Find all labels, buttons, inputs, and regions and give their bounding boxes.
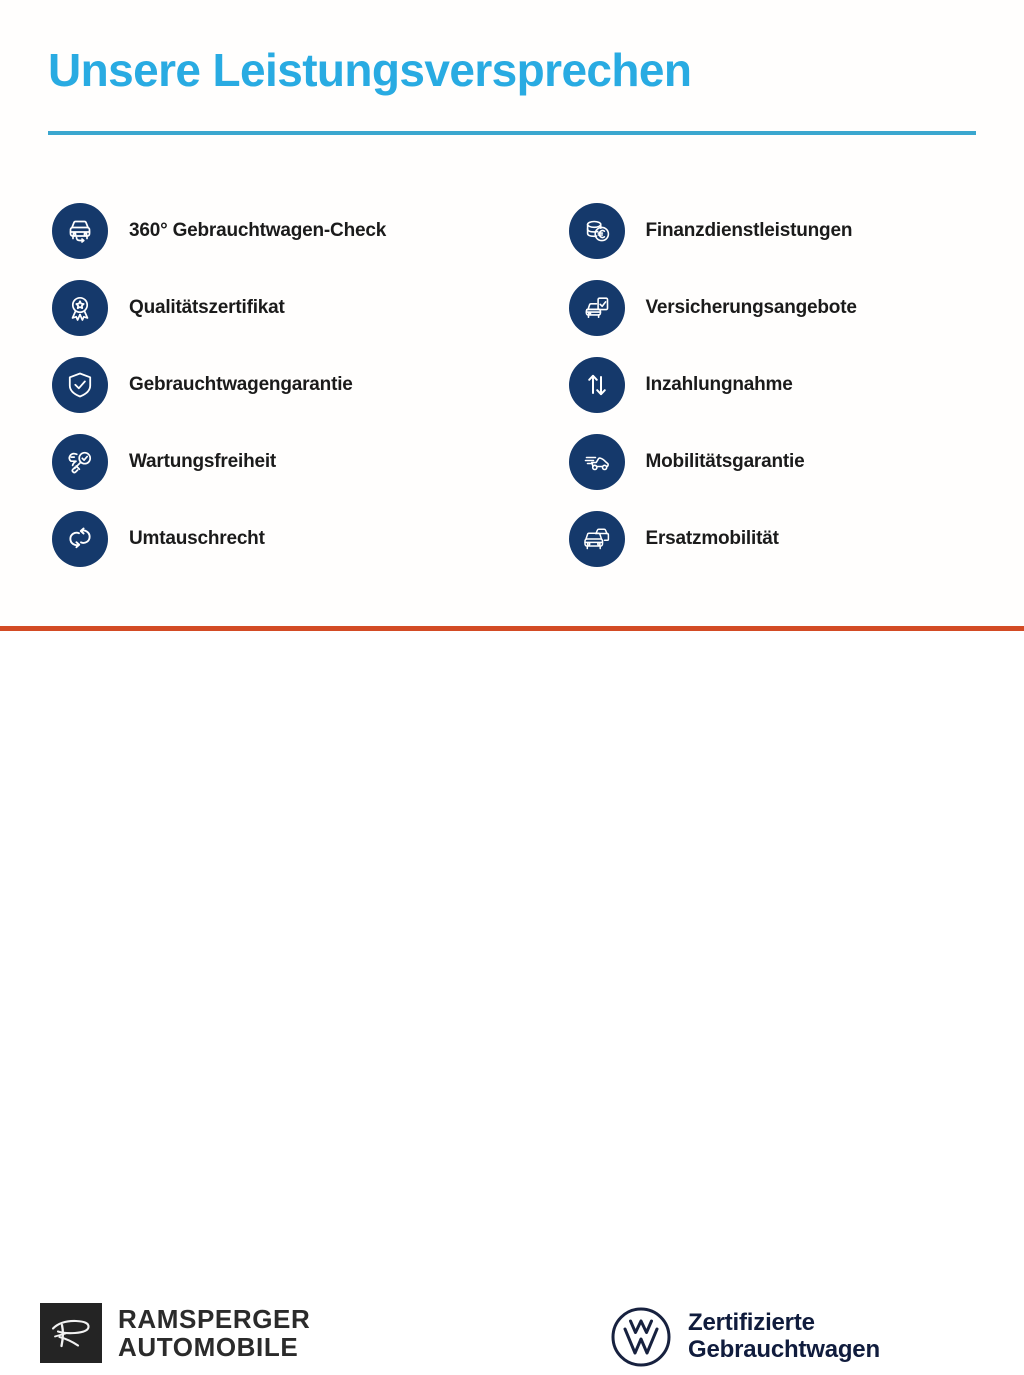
feature-label: Qualitätszertifikat (129, 297, 285, 319)
feature-item-versicherungsangebote[interactable]: Versicherungsangebote (569, 269, 1024, 346)
vw-roundel-icon (608, 1304, 674, 1370)
footer: RAMSPERGER AUTOMOBILE Zertifizierte Gebr… (0, 631, 1024, 768)
feature-label: Gebrauchtwagengarantie (129, 374, 353, 396)
exchange-arrows-icon (52, 511, 108, 567)
car-insurance-check-icon (569, 280, 625, 336)
two-cars-icon (569, 511, 625, 567)
feature-label: Mobilitätsgarantie (646, 451, 805, 473)
promise-slide: Unsere Leistungsversprechen (0, 0, 1024, 768)
ramsperger-line-1: RAMSPERGER (118, 1305, 310, 1333)
volkswagen-logo[interactable]: Zertifizierte Gebrauchtwagen (608, 1304, 880, 1370)
feature-column-right: Finanzdienstleistungen (508, 192, 1024, 577)
vw-line-2: Gebrauchtwagen (688, 1337, 880, 1364)
feature-item-gebrauchtwagengarantie[interactable]: Gebrauchtwagengarantie (52, 346, 508, 423)
title-underline-rule (48, 131, 976, 135)
shield-check-icon (52, 357, 108, 413)
wrench-check-icon (52, 434, 108, 490)
feature-label: Versicherungsangebote (646, 297, 857, 319)
feature-item-finanzdienstleistungen[interactable]: Finanzdienstleistungen (569, 192, 1024, 269)
feature-item-ersatzmobilitaet[interactable]: Ersatzmobilität (569, 500, 1024, 577)
vw-wordmark: Zertifizierte Gebrauchtwagen (688, 1310, 880, 1364)
feature-label: Inzahlungnahme (646, 374, 793, 396)
coins-euro-icon (569, 203, 625, 259)
ramsperger-logo[interactable]: RAMSPERGER AUTOMOBILE (40, 1303, 310, 1363)
ramsperger-wordmark: RAMSPERGER AUTOMOBILE (118, 1305, 310, 1361)
feature-label: Finanzdienstleistungen (646, 220, 853, 242)
ramsperger-line-2: AUTOMOBILE (118, 1333, 310, 1361)
feature-label: 360° Gebrauchtwagen-Check (129, 220, 386, 242)
page-title: Unsere Leistungsversprechen (48, 46, 976, 94)
car-speed-icon (569, 434, 625, 490)
up-down-arrows-icon (569, 357, 625, 413)
feature-label: Wartungsfreiheit (129, 451, 276, 473)
feature-item-wartungsfreiheit[interactable]: Wartungsfreiheit (52, 423, 508, 500)
feature-item-qualitaetszertifikat[interactable]: Qualitätszertifikat (52, 269, 508, 346)
ramsperger-r-mark-icon (40, 1303, 102, 1363)
feature-item-gebrauchtwagen-check[interactable]: 360° Gebrauchtwagen-Check (52, 192, 508, 269)
feature-column-left: 360° Gebrauchtwagen-Check Qualitätszerti… (0, 192, 508, 577)
feature-item-umtauschrecht[interactable]: Umtauschrecht (52, 500, 508, 577)
award-rosette-icon (52, 280, 108, 336)
vw-line-1: Zertifizierte (688, 1310, 880, 1337)
title-block: Unsere Leistungsversprechen (48, 46, 976, 94)
feature-item-inzahlungnahme[interactable]: Inzahlungnahme (569, 346, 1024, 423)
feature-grid: 360° Gebrauchtwagen-Check Qualitätszerti… (0, 192, 1024, 577)
car-check-icon (52, 203, 108, 259)
feature-item-mobilitaetsgarantie[interactable]: Mobilitätsgarantie (569, 423, 1024, 500)
feature-label: Umtauschrecht (129, 528, 265, 550)
feature-label: Ersatzmobilität (646, 528, 779, 550)
